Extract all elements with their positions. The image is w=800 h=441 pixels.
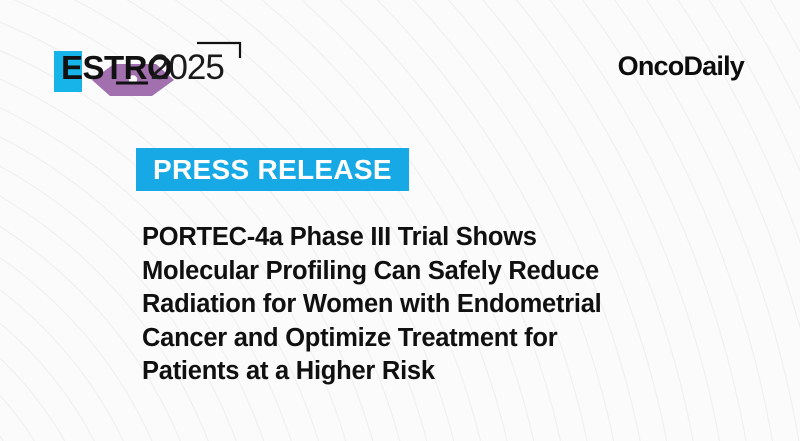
headline-line: Radiation for Women with Endometrial — [142, 288, 682, 322]
headline-line: Patients at a Higher Risk — [142, 355, 682, 389]
oncodaily-logo[interactable]: OncoDaily — [618, 53, 744, 80]
logo-underline — [116, 82, 148, 85]
press-release-badge: PRESS RELEASE — [136, 148, 409, 191]
logo-year-mark: 2025 — [150, 48, 224, 87]
headline: PORTEC-4a Phase III Trial Shows Molecula… — [142, 221, 682, 389]
estro-2025-logo: ESTRO 2025 — [52, 36, 252, 98]
header-row: ESTRO 2025 OncoDaily — [0, 0, 800, 130]
press-release-card: ESTRO 2025 OncoDaily PRESS RELEASE PORTE… — [0, 0, 800, 441]
headline-line: Molecular Profiling Can Safely Reduce — [142, 255, 682, 289]
headline-line: PORTEC-4a Phase III Trial Shows — [142, 221, 682, 255]
headline-line: Cancer and Optimize Treatment for — [142, 322, 682, 356]
press-release-badge-label: PRESS RELEASE — [153, 156, 392, 184]
